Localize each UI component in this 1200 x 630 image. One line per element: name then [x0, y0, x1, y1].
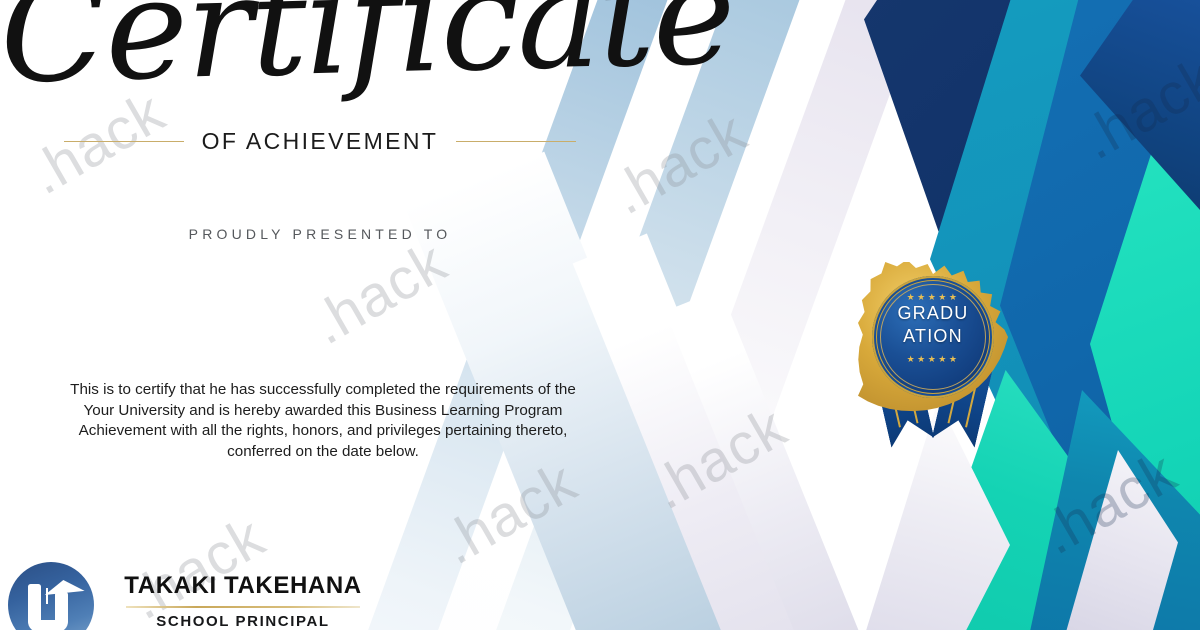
gold-rule-left [64, 141, 184, 142]
gold-rule-right [456, 141, 576, 142]
graduation-cap-tassel [46, 588, 48, 604]
presented-to-label: PROUDLY PRESENTED TO [0, 226, 640, 242]
signature-rule [126, 606, 360, 608]
certificate-subtitle: OF ACHIEVEMENT [202, 128, 439, 155]
signature-block: TAKAKI TAKEHANA SCHOOL PRINCIPAL [118, 572, 368, 630]
certificate-content: Certificate OF ACHIEVEMENT PROUDLY PRESE… [0, 0, 660, 630]
seal-blue-disc: ★★★★★ GRADU ATION ★★★★★ [872, 276, 994, 398]
logo-base [28, 620, 68, 630]
seal-text-line-2: ATION [872, 325, 994, 348]
graduation-seal-badge: ★★★★★ GRADU ATION ★★★★★ [858, 262, 1014, 452]
certificate-body-text: This is to certify that he has successfu… [58, 380, 588, 462]
subtitle-row: OF ACHIEVEMENT [0, 128, 640, 155]
university-graduation-cap-logo-icon [8, 562, 94, 630]
certificate-canvas: .hack.hack.hack.hack.hack.hack.hack.hack… [0, 0, 1200, 630]
seal-stars-bottom: ★★★★★ [872, 354, 994, 365]
signer-name: TAKAKI TAKEHANA [118, 572, 368, 600]
seal-text: GRADU ATION [872, 302, 994, 348]
signer-role: SCHOOL PRINCIPAL [118, 613, 368, 630]
graduation-cap-icon [43, 578, 84, 595]
page-title: Certificate [0, 0, 642, 104]
seal-text-line-1: GRADU [872, 302, 994, 325]
